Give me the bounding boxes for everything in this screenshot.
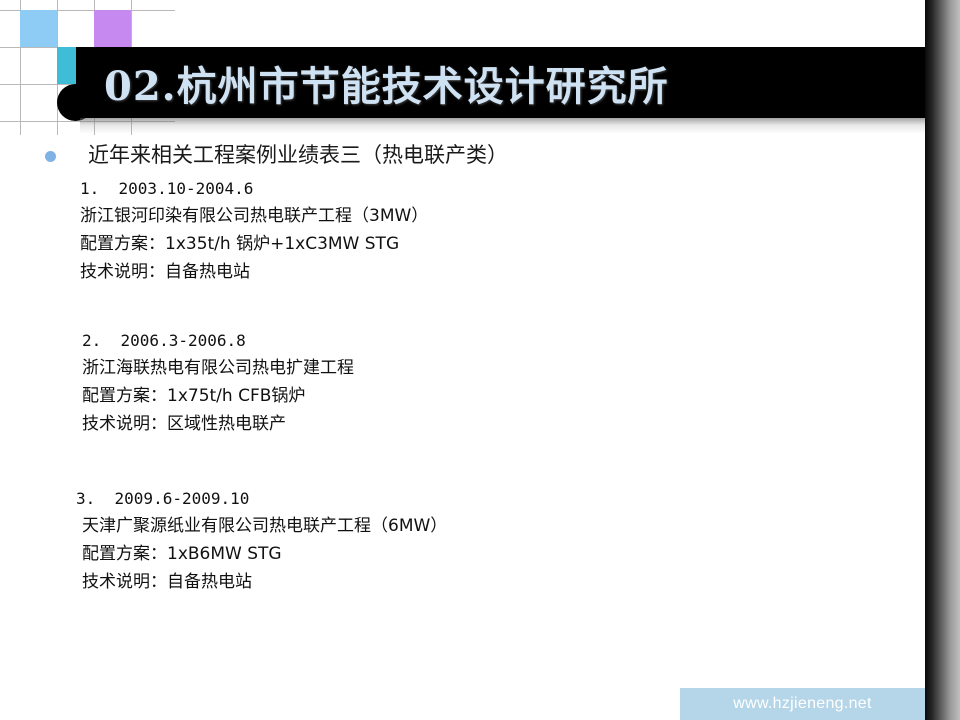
entry-config: 配置方案：1xB6MW STG [76,540,925,568]
entry-date-range: 1. 2003.10-2004.6 [80,176,925,202]
entry-date-range: 2. 2006.3-2006.8 [82,328,925,354]
bullet-heading-row: 近年来相关工程案例业绩表三（热电联产类） [0,140,925,170]
decorative-square-purple [94,10,131,47]
entry-project: 浙江银河印染有限公司热电联产工程（3MW） [80,202,925,230]
project-entry: 3. 2009.6-2009.10 天津广聚源纸业有限公司热电联产工程（6MW）… [0,486,925,596]
entry-project: 天津广聚源纸业有限公司热电联产工程（6MW） [76,512,925,540]
bullet-dot-icon [45,151,56,162]
slide-edge-shadow [925,0,960,720]
entry-spacer [0,458,925,486]
project-entry: 2. 2006.3-2006.8 浙江海联热电有限公司热电扩建工程 配置方案：1… [0,328,925,438]
footer-website-url: www.hzjieneng.net [680,695,925,713]
entry-tech-note: 技术说明：区域性热电联产 [82,410,925,438]
entry-date-range: 3. 2009.6-2009.10 [76,486,925,512]
slide-title-bar: 02.杭州市节能技术设计研究所 [76,47,925,118]
slide-body: 近年来相关工程案例业绩表三（热电联产类） 1. 2003.10-2004.6 浙… [0,140,925,616]
entry-config: 配置方案：1x75t/h CFB锅炉 [82,382,925,410]
entry-spacer [0,306,925,328]
bullet-heading-text: 近年来相关工程案例业绩表三（热电联产类） [88,143,508,167]
slide-title: 02.杭州市节能技术设计研究所 [104,54,669,112]
decorative-square-blue [20,10,57,47]
entry-tech-note: 技术说明：自备热电站 [76,568,925,596]
footer-watermark-bar: www.hzjieneng.net [680,688,925,720]
entry-tech-note: 技术说明：自备热电站 [80,258,925,286]
presentation-slide: 02.杭州市节能技术设计研究所 近年来相关工程案例业绩表三（热电联产类） 1. … [0,0,960,720]
project-entry: 1. 2003.10-2004.6 浙江银河印染有限公司热电联产工程（3MW） … [0,176,925,286]
entry-project: 浙江海联热电有限公司热电扩建工程 [82,354,925,382]
entry-config: 配置方案：1x35t/h 锅炉+1xC3MW STG [80,230,925,258]
